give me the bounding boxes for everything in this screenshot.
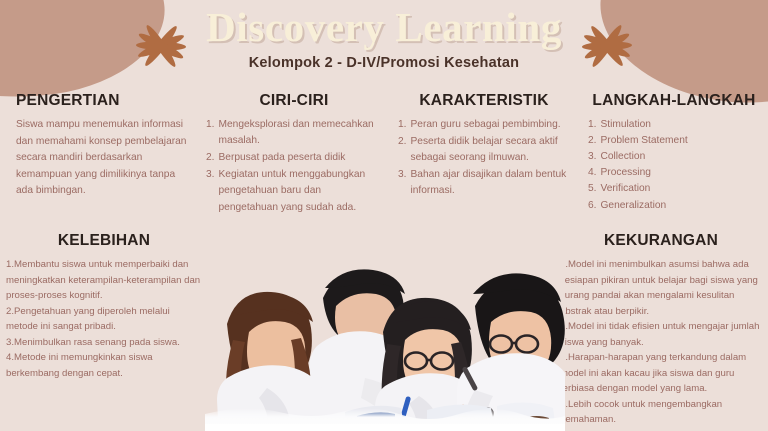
langkah-langkah-list: 1.Stimulation 2.Problem Statement 3.Coll… xyxy=(588,117,760,214)
list-number: 5. xyxy=(588,181,597,197)
header: Discovery Learning Kelompok 2 - D-IV/Pro… xyxy=(0,0,768,86)
list-item: 3.Collection xyxy=(588,149,760,165)
list-text: Problem Statement xyxy=(601,133,761,149)
list-text: Berpusat pada peserta didik xyxy=(219,150,383,166)
list-item: 3.Kegiatan untuk menggabungkan pengetahu… xyxy=(206,167,382,215)
list-number: 1. xyxy=(206,117,215,149)
page-title: Discovery Learning xyxy=(0,0,768,51)
list-item: 6.Generalization xyxy=(588,198,760,214)
section-karakteristik: KARAKTERISTIK 1.Peran guru sebagai pembi… xyxy=(390,92,578,217)
top-columns: PENGERTIAN Siswa mampu menemukan informa… xyxy=(0,92,768,217)
list-item: 4.Metode ini memungkinkan siswa berkemba… xyxy=(6,350,202,381)
list-item: 2.Pengetahuan yang diperoleh melalui met… xyxy=(6,304,202,335)
list-number: 2. xyxy=(398,134,407,166)
infographic-canvas: Discovery Learning Kelompok 2 - D-IV/Pro… xyxy=(0,0,768,431)
list-number: 6. xyxy=(588,198,597,214)
section-heading-karakteristik: KARAKTERISTIK xyxy=(398,92,570,110)
list-text: Peserta didik belajar secara aktif sebag… xyxy=(411,134,571,166)
list-item: 1.Peran guru sebagai pembimbing. xyxy=(398,117,570,133)
list-number: 3. xyxy=(398,167,407,199)
list-text: Processing xyxy=(601,165,761,181)
list-item: 4.Processing xyxy=(588,165,760,181)
karakteristik-list: 1.Peran guru sebagai pembimbing. 2.Peser… xyxy=(398,117,570,200)
section-heading-pengertian: PENGERTIAN xyxy=(16,92,192,110)
list-text: Stimulation xyxy=(601,117,761,133)
list-text: Mengeksplorasi dan memecahkan masalah. xyxy=(219,117,383,149)
list-number: 3. xyxy=(206,167,215,215)
kelebihan-list: 1.Membantu siswa untuk memperbaiki dan m… xyxy=(6,257,202,381)
list-item: 3.Harapan-harapan yang terkandung dalam … xyxy=(560,350,762,397)
section-pengertian: PENGERTIAN Siswa mampu menemukan informa… xyxy=(0,92,200,217)
list-number: 1. xyxy=(588,117,597,133)
list-text: Bahan ajar disajikan dalam bentuk inform… xyxy=(411,167,571,199)
list-item: 1.Mengeksplorasi dan memecahkan masalah. xyxy=(206,117,382,149)
section-kekurangan: KEKURANGAN 1.Model ini menimbulkan asums… xyxy=(552,232,768,428)
list-text: Kegiatan untuk menggabungkan pengetahuan… xyxy=(219,167,383,215)
section-heading-kekurangan: KEKURANGAN xyxy=(560,232,762,250)
list-item: 2.Model ini tidak efisien untuk mengajar… xyxy=(560,319,762,350)
list-item: 1.Model ini menimbulkan asumsi bahwa ada… xyxy=(560,257,762,319)
section-ciri-ciri: CIRI-CIRI 1.Mengeksplorasi dan memecahka… xyxy=(200,92,390,217)
list-number: 1. xyxy=(398,117,407,133)
section-heading-ciri-ciri: CIRI-CIRI xyxy=(206,92,382,110)
list-text: Generalization xyxy=(601,198,761,214)
list-number: 4. xyxy=(588,165,597,181)
list-item: 2.Problem Statement xyxy=(588,133,760,149)
list-item: 3.Menimbulkan rasa senang pada siswa. xyxy=(6,335,202,351)
section-kelebihan: KELEBIHAN 1.Membantu siswa untuk memperb… xyxy=(0,232,210,381)
section-heading-langkah-langkah: LANGKAH-LANGKAH xyxy=(588,92,760,110)
list-item: 3.Bahan ajar disajikan dalam bentuk info… xyxy=(398,167,570,199)
list-number: 2. xyxy=(588,133,597,149)
list-item: 1.Stimulation xyxy=(588,117,760,133)
ciri-ciri-list: 1.Mengeksplorasi dan memecahkan masalah.… xyxy=(206,117,382,216)
students-photo xyxy=(205,228,565,431)
page-subtitle: Kelompok 2 - D-IV/Promosi Kesehatan xyxy=(0,55,768,71)
list-text: Verification xyxy=(601,181,761,197)
list-number: 2. xyxy=(206,150,215,166)
list-item: 2.Peserta didik belajar secara aktif seb… xyxy=(398,134,570,166)
list-item: 2.Berpusat pada peserta didik xyxy=(206,150,382,166)
list-number: 3. xyxy=(588,149,597,165)
pengertian-paragraph: Siswa mampu menemukan informasi dan mema… xyxy=(16,117,192,200)
list-item: 1.Membantu siswa untuk memperbaiki dan m… xyxy=(6,257,202,304)
list-item: 5.Verification xyxy=(588,181,760,197)
kekurangan-list: 1.Model ini menimbulkan asumsi bahwa ada… xyxy=(560,257,762,428)
section-heading-kelebihan: KELEBIHAN xyxy=(6,232,202,250)
list-item: 4.Lebih cocok untuk mengembangkan pemaha… xyxy=(560,397,762,428)
list-text: Peran guru sebagai pembimbing. xyxy=(411,117,571,133)
list-text: Collection xyxy=(601,149,761,165)
section-langkah-langkah: LANGKAH-LANGKAH 1.Stimulation 2.Problem … xyxy=(578,92,768,217)
